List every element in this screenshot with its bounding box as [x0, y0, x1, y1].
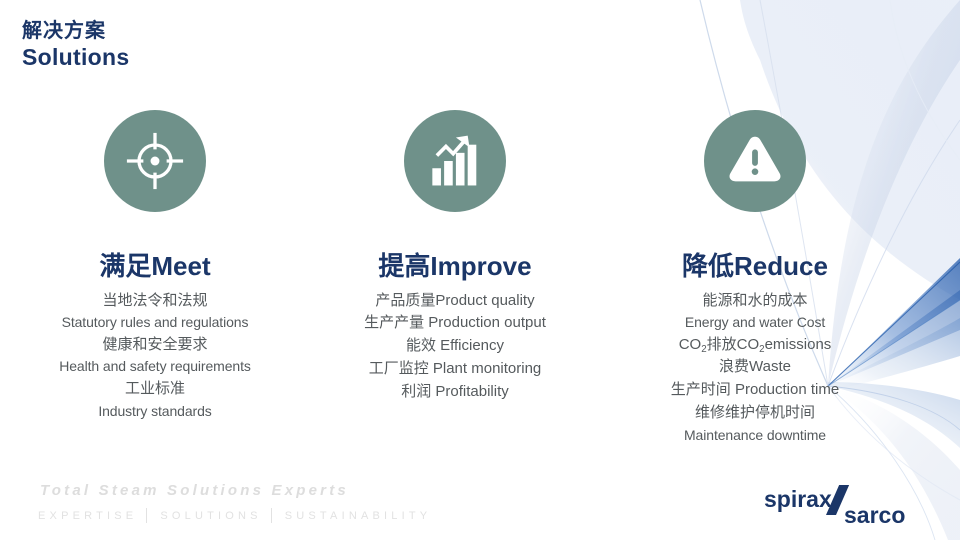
list-item: 当地法令和法规 [59, 290, 251, 313]
slide-canvas: 解决方案 Solutions 满足Meet 当地 [0, 0, 960, 540]
footer-pillar-solutions: SOLUTIONS [160, 510, 261, 522]
solution-column-meet: 满足Meet 当地法令和法规 Statutory rules and regul… [5, 110, 305, 446]
list-item: Maintenance downtime [671, 425, 839, 446]
logo-word-sarco: sarco [844, 502, 905, 528]
footer-pillar-sustainability: SUSTAINABILITY [285, 510, 432, 522]
warning-triangle-icon [704, 110, 806, 212]
footer-tagline: Total Steam Solutions Experts [40, 482, 349, 499]
spirax-sarco-logo: spirax sarco [760, 485, 940, 531]
list-item: 产品质量Product quality [364, 290, 546, 313]
list-item: 能源和水的成本 [671, 290, 839, 313]
list-item: 能效 Efficiency [364, 335, 546, 358]
column-heading-improve: 提高Improve [378, 252, 531, 281]
solution-column-reduce: 降低Reduce 能源和水的成本 Energy and water Cost C… [605, 110, 905, 446]
list-item: 浪费Waste [671, 356, 839, 379]
bar-chart-growth-icon [404, 110, 506, 212]
list-item: 工业标准 [59, 378, 251, 401]
footer-pillar-expertise: EXPERTISE [38, 510, 137, 522]
list-item: 工厂监控 Plant monitoring [364, 358, 546, 381]
list-item: Energy and water Cost [671, 312, 839, 333]
list-item: Industry standards [59, 401, 251, 422]
list-item-co2: CO2排放CO2emissions [671, 334, 839, 357]
list-item: Health and safety requirements [59, 356, 251, 377]
page-title-en: Solutions [22, 44, 129, 71]
footer-divider [271, 508, 272, 523]
list-item: 健康和安全要求 [59, 334, 251, 357]
column-heading-meet: 满足Meet [99, 252, 210, 281]
column-lines-reduce: 能源和水的成本 Energy and water Cost CO2排放CO2em… [671, 290, 839, 447]
page-title-cn: 解决方案 [22, 20, 129, 44]
list-item: 维修维护停机时间 [671, 402, 839, 425]
list-item: 生产产量 Production output [364, 312, 546, 335]
solution-column-improve: 提高Improve 产品质量Product quality 生产产量 Produ… [305, 110, 605, 446]
list-item: Statutory rules and regulations [59, 312, 251, 333]
solutions-columns: 满足Meet 当地法令和法规 Statutory rules and regul… [0, 110, 960, 446]
column-heading-reduce: 降低Reduce [682, 252, 828, 281]
footer-pillars: EXPERTISE SOLUTIONS SUSTAINABILITY [38, 508, 431, 523]
footer-divider [146, 508, 147, 523]
column-lines-meet: 当地法令和法规 Statutory rules and regulations … [59, 290, 251, 422]
list-item: 生产时间 Production time [671, 379, 839, 402]
logo-word-spirax: spirax [764, 486, 832, 512]
page-title: 解决方案 Solutions [22, 20, 129, 71]
column-lines-improve: 产品质量Product quality 生产产量 Production outp… [364, 290, 546, 404]
crosshair-target-icon [104, 110, 206, 212]
list-item: 利润 Profitability [364, 381, 546, 404]
